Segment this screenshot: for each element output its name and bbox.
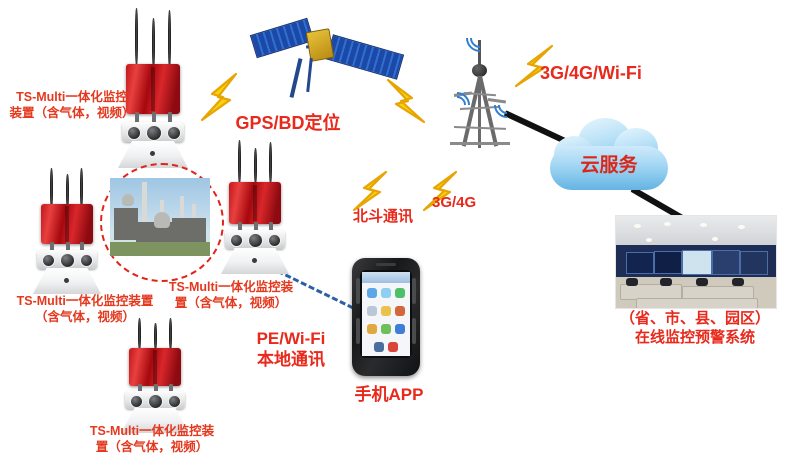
plant-building xyxy=(172,218,206,242)
video-wall-panel xyxy=(682,250,712,275)
sensor-port-icon xyxy=(127,126,141,140)
solar-panel xyxy=(326,34,404,79)
app-icon[interactable] xyxy=(395,324,405,334)
app-screen[interactable] xyxy=(362,272,410,356)
app-icon[interactable] xyxy=(374,342,384,352)
video-wall-panel xyxy=(712,250,740,275)
video-wall-panel xyxy=(740,251,768,275)
ceiling xyxy=(616,216,776,247)
device-body xyxy=(41,204,93,244)
handheld-label: 手机APP xyxy=(342,384,436,405)
sensor-port-icon xyxy=(168,395,181,408)
sensor-port-icon xyxy=(248,233,263,248)
link-3g4gwifi-label: 3G/4G/Wi-Fi xyxy=(540,62,720,85)
plant-grass xyxy=(110,242,210,256)
plant-tank xyxy=(122,194,134,206)
app-icon[interactable] xyxy=(395,306,405,316)
sensor-port-icon xyxy=(80,254,93,267)
industrial-plant-photo xyxy=(110,178,210,256)
app-icon[interactable] xyxy=(367,288,377,298)
antenna-icon xyxy=(269,142,272,184)
sensor-port-icon xyxy=(42,254,55,267)
app-icon[interactable] xyxy=(367,324,377,334)
chair xyxy=(626,278,638,286)
device-top-left-label: TS-Multi一体化监控 装置（含气体，视频） xyxy=(2,90,142,121)
app-icon[interactable] xyxy=(381,288,391,298)
diagram-canvas: TS-Multi一体化监控 装置（含气体，视频） TS-Multi一体化监控装置… xyxy=(0,0,797,464)
tower-leg xyxy=(478,76,481,148)
video-wall-panel xyxy=(626,252,654,274)
sensor-port-icon xyxy=(148,394,163,409)
ceiling-light xyxy=(700,223,707,227)
grip-texture xyxy=(412,318,416,344)
antenna-icon xyxy=(168,10,171,68)
satellite-body xyxy=(306,28,335,62)
cloud-label: 云服务 xyxy=(548,154,670,178)
app-icon[interactable] xyxy=(367,306,377,316)
ceiling-light xyxy=(664,222,671,226)
video-wall-panel xyxy=(654,251,682,274)
antenna-icon xyxy=(152,18,155,68)
antenna-icon xyxy=(50,168,53,208)
console-desk xyxy=(636,298,758,309)
sensor-port-icon xyxy=(146,125,162,141)
grip-texture xyxy=(412,278,416,304)
device-center[interactable] xyxy=(210,140,302,270)
antenna-icon xyxy=(154,323,157,350)
device-indicator xyxy=(252,258,257,263)
app-icon[interactable] xyxy=(381,324,391,334)
app-icon[interactable] xyxy=(381,306,391,316)
device-center-label: TS-Multi一体化监控装 置（含气体，视频） xyxy=(156,280,306,311)
link-3g4g-label: 3G/4G xyxy=(432,194,512,213)
control-room-photo xyxy=(615,215,777,309)
speaker-grille xyxy=(376,263,396,266)
device-body xyxy=(129,348,181,386)
signal-wave-icon xyxy=(489,87,526,124)
sensor-port-icon xyxy=(230,234,243,247)
link-beidou-label: 北斗通讯 xyxy=(338,208,428,227)
plant-building xyxy=(114,208,138,240)
ceiling-light xyxy=(634,224,641,228)
sensor-port-icon xyxy=(60,253,75,268)
chair xyxy=(696,278,708,286)
ceiling-light xyxy=(646,238,652,242)
status-bar xyxy=(362,272,410,283)
chair xyxy=(732,278,744,286)
app-icon[interactable] xyxy=(395,288,405,298)
plant-tank xyxy=(154,212,170,228)
antenna-icon xyxy=(135,8,138,66)
device-indicator xyxy=(64,278,69,283)
link-local-label: PE/Wi-Fi 本地通讯 xyxy=(228,328,354,371)
sensor-port-icon xyxy=(130,395,143,408)
solar-panel xyxy=(250,18,314,58)
antenna-icon xyxy=(254,148,257,184)
antenna-icon xyxy=(238,140,241,184)
device-indicator xyxy=(150,151,155,156)
tower-brace xyxy=(450,142,510,145)
antenna-icon xyxy=(66,174,69,208)
ceiling-light xyxy=(738,225,745,229)
lightning-bolt-icon xyxy=(378,78,436,126)
cloud-icon[interactable]: 云服务 xyxy=(548,118,676,192)
antenna-icon xyxy=(138,318,141,350)
ceiling-light xyxy=(712,237,718,241)
satellite-antenna-boom xyxy=(290,58,303,98)
app-icon[interactable] xyxy=(388,342,398,352)
handheld-app-device[interactable] xyxy=(352,258,420,376)
device-bottom-left[interactable] xyxy=(110,318,202,428)
device-bottom-left-label: TS-Multi一体化监控装 置（含气体，视频） xyxy=(72,424,232,455)
sensor-port-icon xyxy=(167,126,181,140)
antenna-icon xyxy=(169,318,172,350)
control-room-label: （省、市、县、园区） 在线监控预警系统 xyxy=(600,310,790,348)
antenna-icon xyxy=(80,168,83,208)
device-top-left[interactable] xyxy=(108,8,200,168)
link-gps-label: GPS/BD定位 xyxy=(218,112,358,135)
chair xyxy=(660,278,672,286)
signal-wave-icon xyxy=(460,18,500,58)
sensor-port-icon xyxy=(268,234,281,247)
satellite-antenna-boom xyxy=(306,58,313,92)
device-body xyxy=(229,182,281,224)
